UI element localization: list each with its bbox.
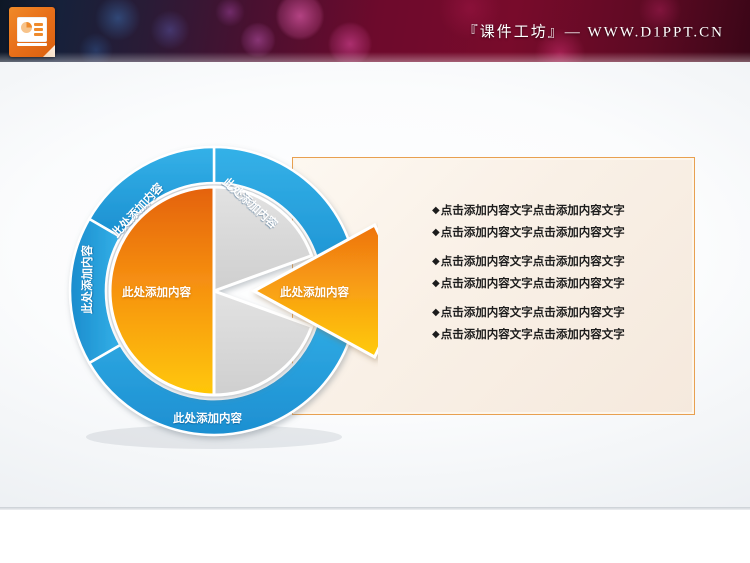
- diamond-bullet-icon: ◆: [432, 254, 440, 269]
- list-item[interactable]: ◆ 点击添加内容文字点击添加内容文字: [432, 225, 682, 240]
- icon-base-bar: [17, 43, 47, 46]
- spacer: [432, 320, 682, 327]
- diamond-bullet-icon: ◆: [432, 327, 440, 342]
- list-item[interactable]: ◆ 点击添加内容文字点击添加内容文字: [432, 305, 682, 320]
- diamond-bullet-icon: ◆: [432, 225, 440, 240]
- slide-header-banner: 『课件工坊』— WWW.D1PPT.CN: [0, 0, 750, 62]
- list-item[interactable]: ◆ 点击添加内容文字点击添加内容文字: [432, 327, 682, 342]
- diamond-bullet-icon: ◆: [432, 203, 440, 218]
- icon-line-3: [34, 33, 43, 36]
- group-gap: [432, 291, 682, 305]
- header-title: 『课件工坊』— WWW.D1PPT.CN: [463, 21, 724, 42]
- list-item[interactable]: ◆ 点击添加内容文字点击添加内容文字: [432, 203, 682, 218]
- header-bottom-glow: [0, 52, 750, 62]
- list-item-label: 点击添加内容文字点击添加内容文字: [441, 254, 625, 269]
- powerpoint-document-icon: [9, 7, 55, 57]
- pie-label-exploded-wedge: 此处添加内容: [280, 284, 349, 300]
- list-item-label: 点击添加内容文字点击添加内容文字: [441, 225, 625, 240]
- icon-slide-window: [17, 17, 47, 42]
- donut-pie-diagram: 此处添加内容 此处添加内容 此处添加内容 此处添加内容 此处添加内容 此处添加内…: [58, 132, 378, 452]
- ring-label-left: 此处添加内容: [79, 245, 95, 314]
- list-item[interactable]: ◆ 点击添加内容文字点击添加内容文字: [432, 276, 682, 291]
- list-item-label: 点击添加内容文字点击添加内容文字: [441, 305, 625, 320]
- pie-label-orange-large: 此处添加内容: [122, 284, 191, 300]
- diamond-bullet-icon: ◆: [432, 276, 440, 291]
- spacer: [432, 269, 682, 276]
- list-item-label: 点击添加内容文字点击添加内容文字: [441, 327, 625, 342]
- spacer: [432, 218, 682, 225]
- group-gap: [432, 240, 682, 254]
- icon-line-1: [34, 23, 43, 26]
- ring-label-bottom: 此处添加内容: [173, 410, 242, 426]
- diamond-bullet-icon: ◆: [432, 305, 440, 320]
- icon-line-2: [34, 28, 43, 31]
- list-item[interactable]: ◆ 点击添加内容文字点击添加内容文字: [432, 254, 682, 269]
- slide-canvas: 『课件工坊』— WWW.D1PPT.CN ◆ 点击添加内容文字点击添加内容文字 …: [0, 0, 750, 563]
- list-item-label: 点击添加内容文字点击添加内容文字: [441, 276, 625, 291]
- bullet-list: ◆ 点击添加内容文字点击添加内容文字 ◆ 点击添加内容文字点击添加内容文字 ◆ …: [432, 203, 682, 342]
- list-item-label: 点击添加内容文字点击添加内容文字: [441, 203, 625, 218]
- slide-footer: 课件工坊 HTTP://WWW.D1PPT.CN: [0, 510, 750, 563]
